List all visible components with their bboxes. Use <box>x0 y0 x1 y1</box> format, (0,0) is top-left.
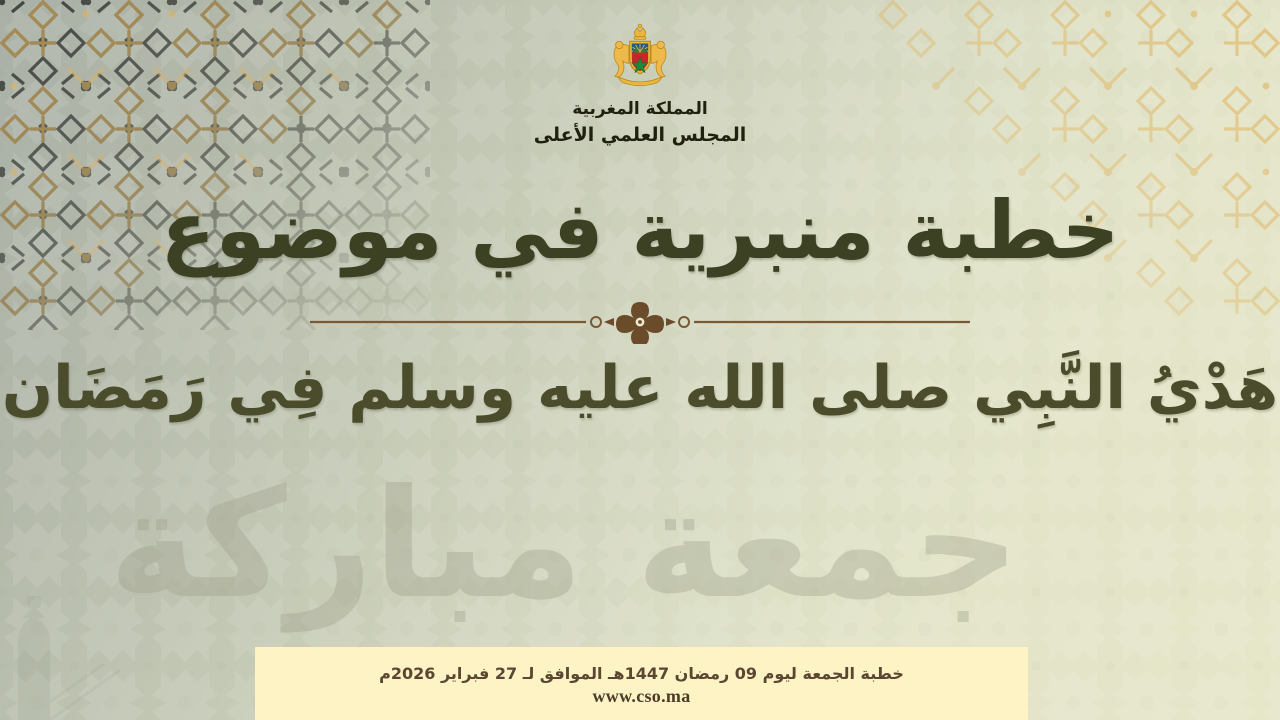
morocco-coat-of-arms <box>603 22 677 96</box>
background-watermark-calligraphy: جمعة مباركة <box>260 470 1020 620</box>
website-url[interactable]: www.cso.ma <box>593 686 691 707</box>
sermon-subject: هَدْيُ النَّبِي صلى الله عليه وسلم فِي ر… <box>0 352 1280 424</box>
quatrefoil-floral-divider <box>310 300 970 344</box>
sermon-poster: جمعة مباركة <box>0 0 1280 720</box>
header-emblem-block: المملكة المغربية المجلس العلمي الأعلى <box>0 22 1280 146</box>
organization-name-kingdom: المملكة المغربية <box>572 100 707 120</box>
sermon-date-line: خطبة الجمعة ليوم 09 رمضان 1447هـ الموافق… <box>379 664 904 683</box>
organization-name-council: المجلس العلمي الأعلى <box>534 125 747 147</box>
page-title: خطبة منبرية في موضوع <box>0 186 1280 276</box>
caption-panel: خطبة الجمعة ليوم 09 رمضان 1447هـ الموافق… <box>255 647 1028 720</box>
